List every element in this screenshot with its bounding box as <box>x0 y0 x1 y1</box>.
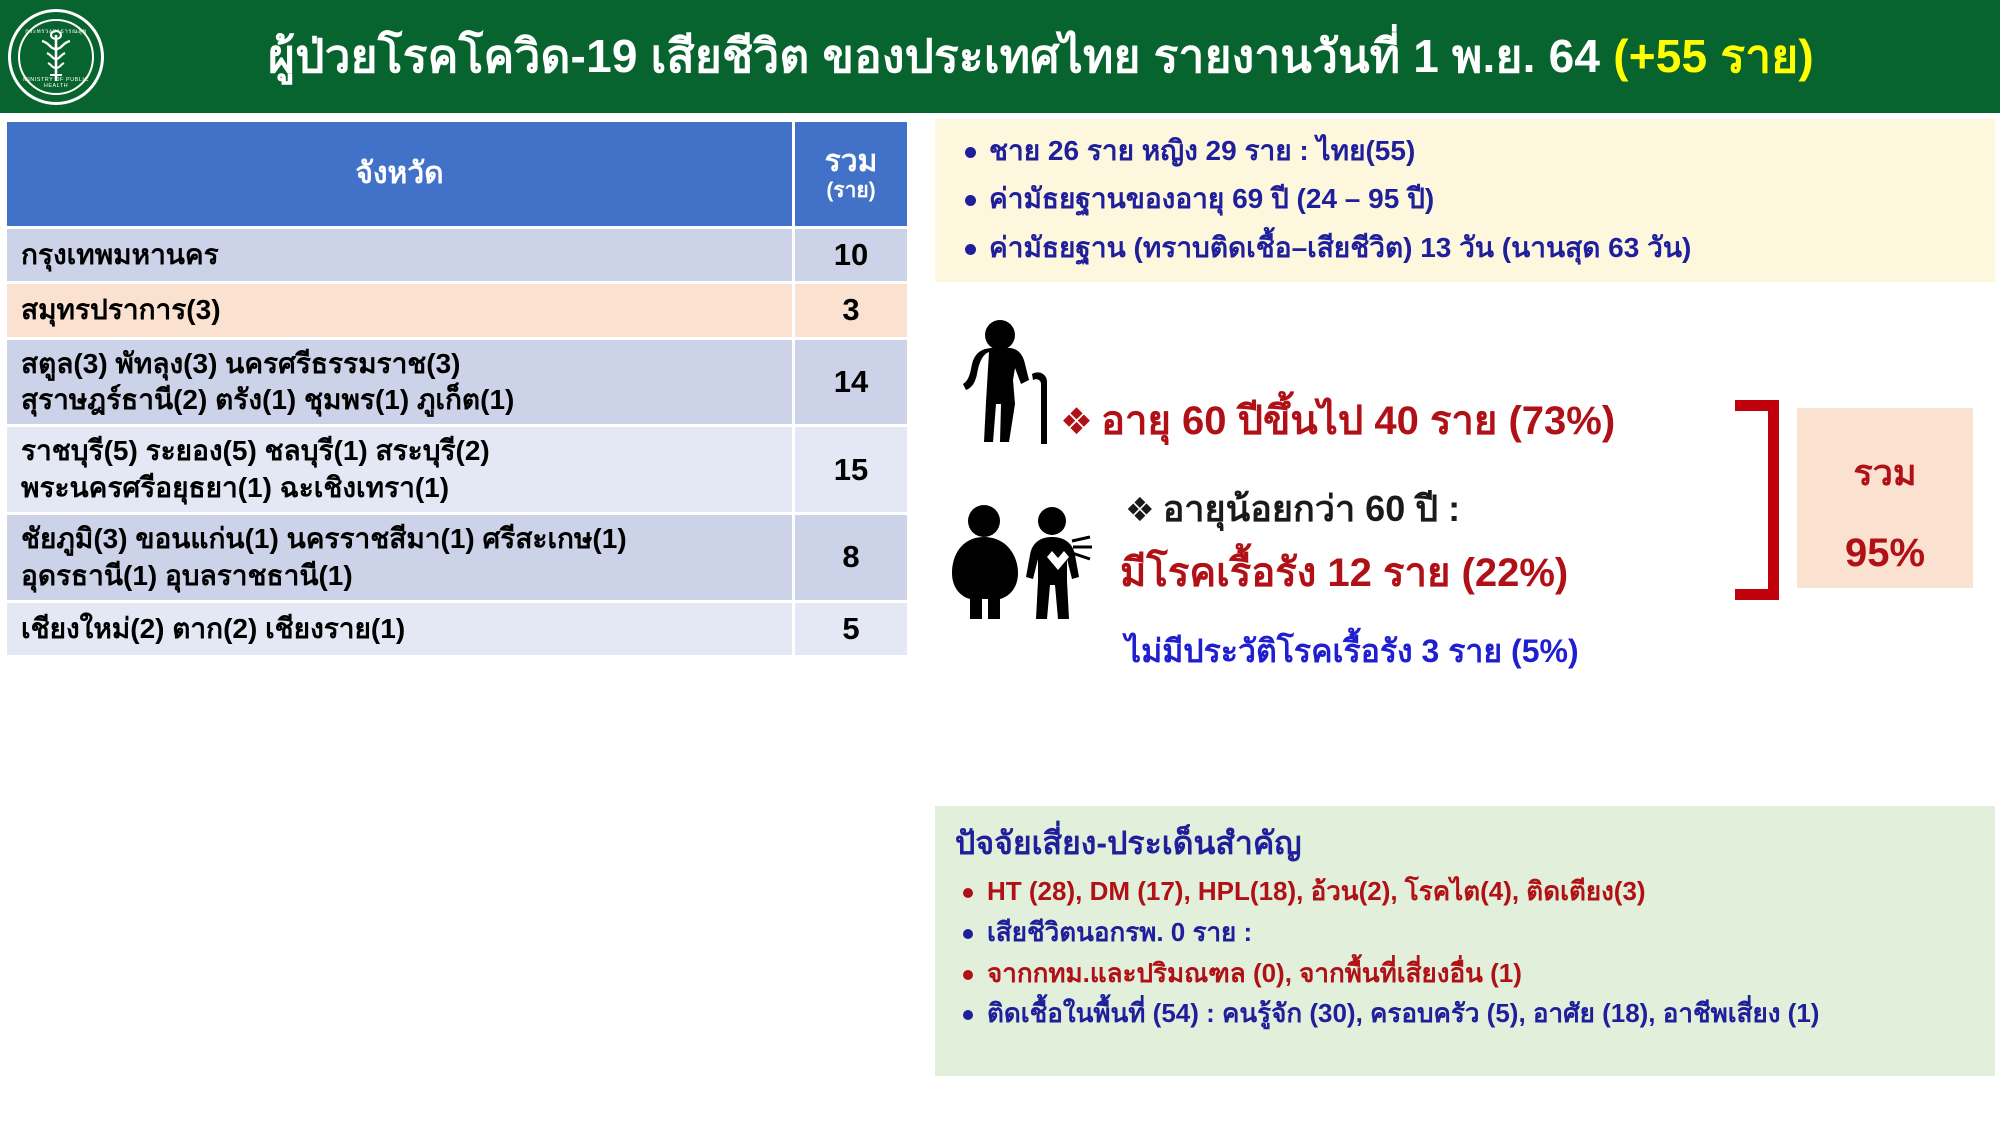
list-item: HT (28), DM (17), HPL(18), อ้วน(2), โรคไ… <box>951 875 1985 909</box>
province-line-2: อุดรธานี(1) อุบลราชธานี(1) <box>21 558 778 594</box>
chronic-disease-line: มีโรคเรื้อรัง 12 ราย (22%) <box>1120 540 1568 604</box>
cell-total-count: 10 <box>795 229 907 281</box>
red-bracket-decoration <box>1735 400 1779 600</box>
table-row: เชียงใหม่(2) ตาก(2) เชียงราย(1)5 <box>7 603 907 655</box>
elderly-deaths-text: อายุ 60 ปีขึ้นไป 40 ราย (73%) <box>1101 399 1615 443</box>
cell-total-count: 14 <box>795 340 907 425</box>
page-title-main: ผู้ป่วยโรคโควิด-19 เสียชีวิต ของประเทศไท… <box>268 30 1600 82</box>
elderly-deaths-line: ❖อายุ 60 ปีขึ้นไป 40 ราย (73%) <box>1060 388 1615 452</box>
list-item: ค่ามัธยฐานของอายุ 69 ปี (24 – 95 ปี) <box>953 181 1985 217</box>
cell-province-list: สตูล(3) พัทลุง(3) นครศรีธรรมราช(3)สุราษฎ… <box>7 340 792 425</box>
province-line-1: สมุทรปราการ(3) <box>21 292 778 328</box>
page-title: ผู้ป่วยโรคโควิด-19 เสียชีวิต ของประเทศไท… <box>108 20 2000 93</box>
obese-and-chronic-illness-icon <box>940 503 1100 623</box>
no-chronic-disease-line: ไม่มีประวัติโรคเรื้อรัง 3 ราย (5%) <box>1125 626 1579 677</box>
cell-total-count: 5 <box>795 603 907 655</box>
risk-factors-box: ปัจจัยเสี่ยง-ประเด็นสำคัญ HT (28), DM (1… <box>935 806 1995 1076</box>
demographics-summary-box: ชาย 26 ราย หญิง 29 ราย : ไทย(55)ค่ามัธยฐ… <box>935 119 1995 282</box>
table-row: สมุทรปราการ(3)3 <box>7 284 907 336</box>
slide-root: กระทรวงสาธารณสุข MINISTRY OF PUBLIC HEAL… <box>0 0 2000 1125</box>
cell-province-list: เชียงใหม่(2) ตาก(2) เชียงราย(1) <box>7 603 792 655</box>
table-header-row: จังหวัด รวม (ราย) <box>7 122 907 226</box>
table-row: ราชบุรี(5) ระยอง(5) ชลบุรี(1) สระบุรี(2)… <box>7 427 907 512</box>
province-line-1: สตูล(3) พัทลุง(3) นครศรีธรรมราช(3) <box>21 346 778 382</box>
combined-total-box: รวม 95% <box>1797 408 1973 588</box>
cell-total-count: 15 <box>795 427 907 512</box>
list-item: ค่ามัธยฐาน (ทราบติดเชื้อ–เสียชีวิต) 13 ว… <box>953 230 1985 266</box>
list-item: จากกทม.และปริมณฑล (0), จากพื้นที่เสี่ยงอ… <box>951 957 1985 991</box>
province-line-1: กรุงเทพมหานคร <box>21 237 778 273</box>
elderly-person-with-cane-icon <box>953 318 1068 448</box>
diamond-bullet-icon: ❖ <box>1060 400 1093 443</box>
page-header: กระทรวงสาธารณสุข MINISTRY OF PUBLIC HEAL… <box>0 0 2000 113</box>
list-item: ติดเชื้อในพื้นที่ (54) : คนรู้จัก (30), … <box>951 997 1985 1031</box>
risk-factors-bullet-list: HT (28), DM (17), HPL(18), อ้วน(2), โรคไ… <box>951 875 1985 1031</box>
under60-heading-text: อายุน้อยกว่า 60 ปี : <box>1163 488 1460 529</box>
province-table-container: จังหวัด รวม (ราย) กรุงเทพมหานคร10สมุทรปร… <box>4 119 904 658</box>
column-header-province: จังหวัด <box>7 122 792 226</box>
right-column: ชาย 26 ราย หญิง 29 ราย : ไทย(55)ค่ามัธยฐ… <box>935 119 1995 728</box>
province-line-1: เชียงใหม่(2) ตาก(2) เชียงราย(1) <box>21 611 778 647</box>
table-row: ชัยภูมิ(3) ขอนแก่น(1) นครราชสีมา(1) ศรีส… <box>7 515 907 600</box>
cell-province-list: สมุทรปราการ(3) <box>7 284 792 336</box>
cell-province-list: กรุงเทพมหานคร <box>7 229 792 281</box>
province-line-2: สุราษฎร์ธานี(2) ตรัง(1) ชุมพร(1) ภูเก็ต(… <box>21 382 778 418</box>
cell-total-count: 8 <box>795 515 907 600</box>
province-line-2: พระนครศรีอยุธยา(1) ฉะเชิงเทรา(1) <box>21 470 778 506</box>
cell-province-list: ราชบุรี(5) ระยอง(5) ชลบุรี(1) สระบุรี(2)… <box>7 427 792 512</box>
under60-heading-line: ❖อายุน้อยกว่า 60 ปี : <box>1125 480 1460 537</box>
column-header-total-unit: (ราย) <box>801 179 901 203</box>
list-item: ชาย 26 ราย หญิง 29 ราย : ไทย(55) <box>953 133 1985 169</box>
risk-factors-title: ปัจจัยเสี่ยง-ประเด็นสำคัญ <box>955 818 1985 869</box>
combined-total-value: 95% <box>1797 531 1973 576</box>
cell-province-list: ชัยภูมิ(3) ขอนแก่น(1) นครราชสีมา(1) ศรีส… <box>7 515 792 600</box>
list-item: เสียชีวิตนอกรพ. 0 ราย : <box>951 916 1985 950</box>
column-header-total: รวม (ราย) <box>795 122 907 226</box>
age-breakdown-block: ❖อายุ 60 ปีขึ้นไป 40 ราย (73%) ❖อายุน้อย… <box>935 308 1995 728</box>
ministry-of-public-health-logo: กระทรวงสาธารณสุข MINISTRY OF PUBLIC HEAL… <box>8 9 104 105</box>
column-header-total-label: รวม <box>825 145 878 178</box>
province-line-1: ราชบุรี(5) ระยอง(5) ชลบุรี(1) สระบุรี(2) <box>21 433 778 469</box>
new-cases-badge: (+55 ราย) <box>1613 30 1814 82</box>
province-death-table: จังหวัด รวม (ราย) กรุงเทพมหานคร10สมุทรปร… <box>4 119 910 658</box>
cell-total-count: 3 <box>795 284 907 336</box>
logo-bottom-text: MINISTRY OF PUBLIC HEALTH <box>11 77 101 89</box>
diamond-bullet-icon-2: ❖ <box>1125 490 1155 530</box>
table-row: สตูล(3) พัทลุง(3) นครศรีธรรมราช(3)สุราษฎ… <box>7 340 907 425</box>
province-line-1: ชัยภูมิ(3) ขอนแก่น(1) นครราชสีมา(1) ศรีส… <box>21 521 778 557</box>
table-body: กรุงเทพมหานคร10สมุทรปราการ(3)3สตูล(3) พั… <box>7 229 907 655</box>
combined-total-label: รวม <box>1797 444 1973 501</box>
table-row: กรุงเทพมหานคร10 <box>7 229 907 281</box>
demographics-bullet-list: ชาย 26 ราย หญิง 29 ราย : ไทย(55)ค่ามัธยฐ… <box>953 133 1985 266</box>
